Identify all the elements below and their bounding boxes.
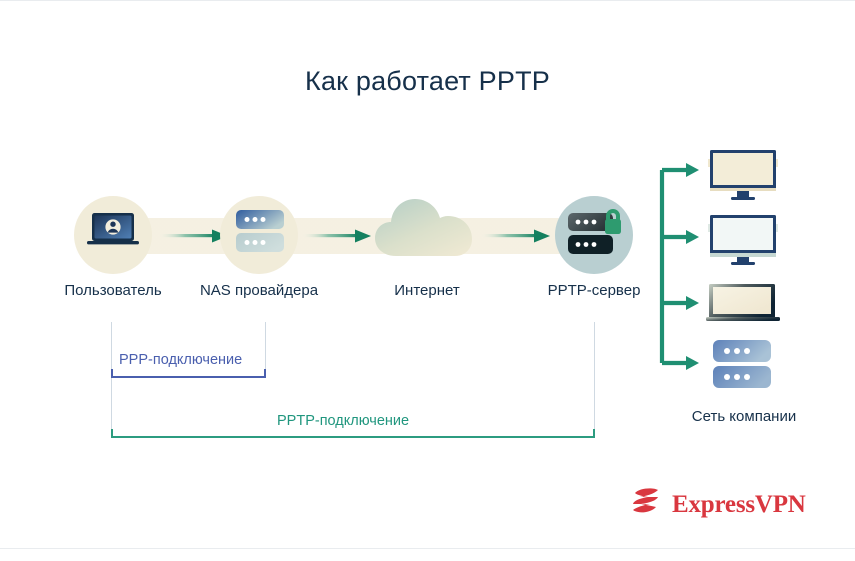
node-label-user: Пользователь [33,282,193,299]
bracket-cap-ppp-right [264,369,266,378]
diagram-canvas: Как работает PPTP [0,0,855,561]
bracket-guide-left [111,322,112,437]
server-icon [233,208,287,261]
page-title: Как работает PPTP [0,66,855,97]
server-icon [711,339,775,396]
secure-server-icon [565,204,629,265]
bracket-label-pptp: PPTP-подключение [277,413,409,429]
flow-arrow-2 [303,225,375,252]
flow-arrow-3 [482,225,554,252]
expressvpn-logo: ExpressVPN [630,487,806,522]
monitor-icon [706,149,780,206]
bracket-cap-pptp-right [593,429,595,438]
top-divider [0,0,855,1]
laptop-icon [706,283,780,330]
company-network-label: Сеть компании [660,408,828,425]
bracket-label-ppp: PPP-подключение [119,352,242,368]
node-label-nas: NAS провайдера [179,282,339,299]
company-network-connector [650,140,710,380]
bottom-divider [0,548,855,549]
cloud-icon [372,194,482,265]
laptop-user-icon [84,208,142,259]
bracket-cap-pptp-left [111,429,113,438]
bracket-guide-right [594,322,595,437]
expressvpn-logo-icon [630,487,662,522]
monitor-icon [706,214,780,271]
bracket-cap-ppp-left [111,369,113,378]
bracket-line-ppp [111,376,266,378]
node-label-internet: Интернет [347,282,507,299]
bracket-line-pptp [111,436,595,438]
expressvpn-wordmark: ExpressVPN [672,491,806,519]
